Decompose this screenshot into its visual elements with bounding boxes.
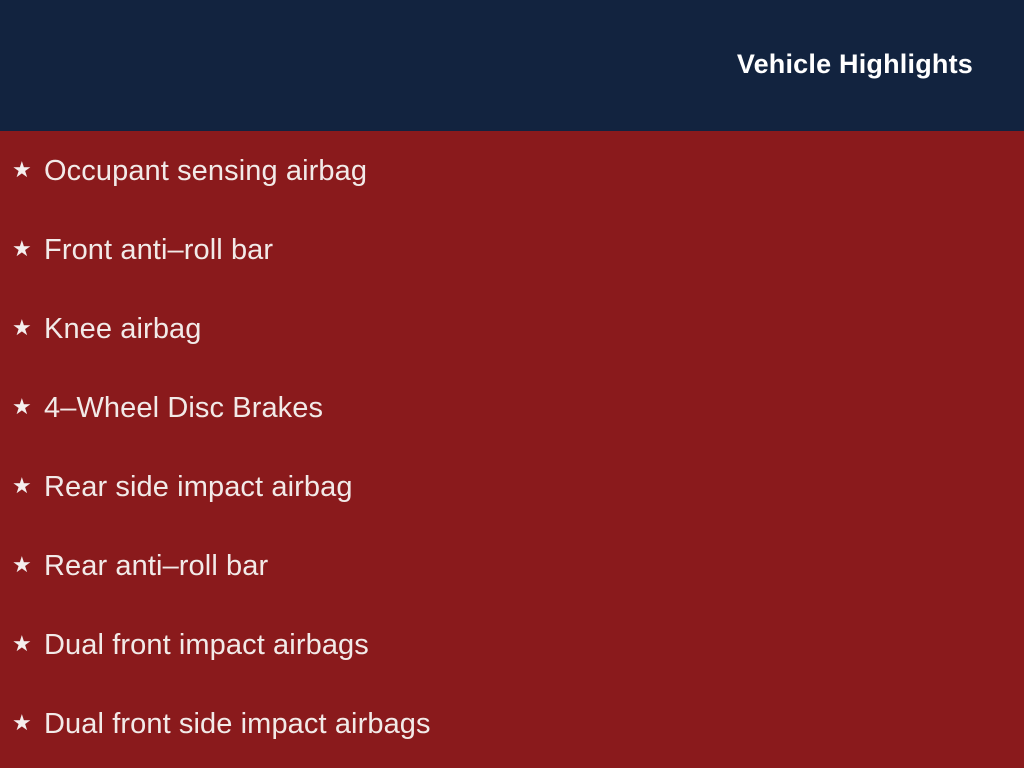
star-icon: ★ (12, 317, 44, 339)
star-icon: ★ (12, 238, 44, 260)
list-item-label: Occupant sensing airbag (44, 154, 367, 188)
list-item-label: 4–Wheel Disc Brakes (44, 391, 323, 425)
list-item: ★ Dual front side impact airbags (0, 684, 1024, 763)
list-item-label: Knee airbag (44, 312, 202, 346)
vehicle-highlights-list: ★ Occupant sensing airbag ★ Front anti–r… (0, 131, 1024, 763)
star-icon: ★ (12, 633, 44, 655)
page-title: Vehicle Highlights (737, 46, 973, 82)
list-item: ★ 4–Wheel Disc Brakes (0, 368, 1024, 447)
list-item: ★ Dual front impact airbags (0, 605, 1024, 684)
star-icon: ★ (12, 159, 44, 181)
list-item-label: Front anti–roll bar (44, 233, 273, 267)
list-item: ★ Rear side impact airbag (0, 447, 1024, 526)
body-area: ★ Occupant sensing airbag ★ Front anti–r… (0, 131, 1024, 768)
slide: Vehicle Highlights ★ Occupant sensing ai… (0, 0, 1024, 768)
list-item: ★ Occupant sensing airbag (0, 131, 1024, 210)
header-band: Vehicle Highlights (0, 0, 1024, 131)
star-icon: ★ (12, 712, 44, 734)
list-item: ★ Front anti–roll bar (0, 210, 1024, 289)
list-item-label: Rear anti–roll bar (44, 549, 268, 583)
list-item-label: Dual front impact airbags (44, 628, 369, 662)
star-icon: ★ (12, 396, 44, 418)
list-item: ★ Rear anti–roll bar (0, 526, 1024, 605)
star-icon: ★ (12, 475, 44, 497)
list-item-label: Rear side impact airbag (44, 470, 353, 504)
list-item-label: Dual front side impact airbags (44, 707, 431, 741)
list-item: ★ Knee airbag (0, 289, 1024, 368)
star-icon: ★ (12, 554, 44, 576)
